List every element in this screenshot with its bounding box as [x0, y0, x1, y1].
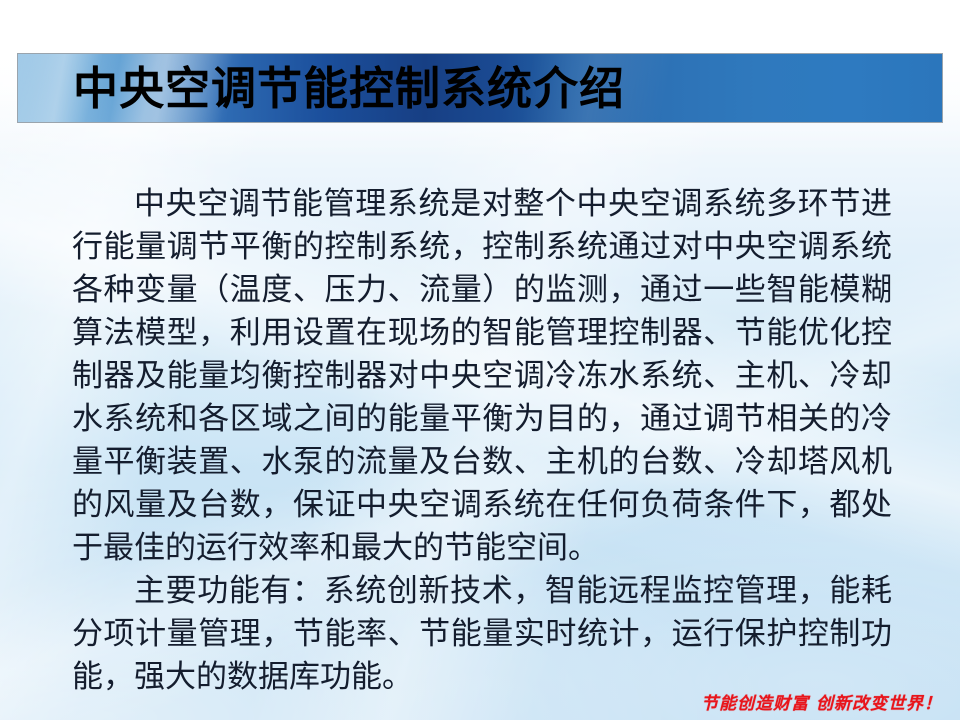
page-title: 中央空调节能控制系统介绍 — [73, 66, 625, 111]
presentation-slide: 中央空调节能控制系统介绍 中央空调节能管理系统是对整个中央空调系统多环节进行能量… — [0, 0, 960, 720]
body-paragraph-1: 中央空调节能管理系统是对整个中央空调系统多环节进行能量调节平衡的控制系统，控制系… — [72, 182, 892, 569]
slide-title-bar: 中央空调节能控制系统介绍 — [17, 53, 943, 123]
footer-slogan: 节能创造财富 创新改变世界！ — [701, 689, 942, 714]
body-paragraph-2: 主要功能有：系统创新技术，智能远程监控管理，能耗分项计量管理，节能率、节能量实时… — [72, 569, 892, 698]
slide-body-text: 中央空调节能管理系统是对整个中央空调系统多环节进行能量调节平衡的控制系统，控制系… — [72, 182, 892, 698]
